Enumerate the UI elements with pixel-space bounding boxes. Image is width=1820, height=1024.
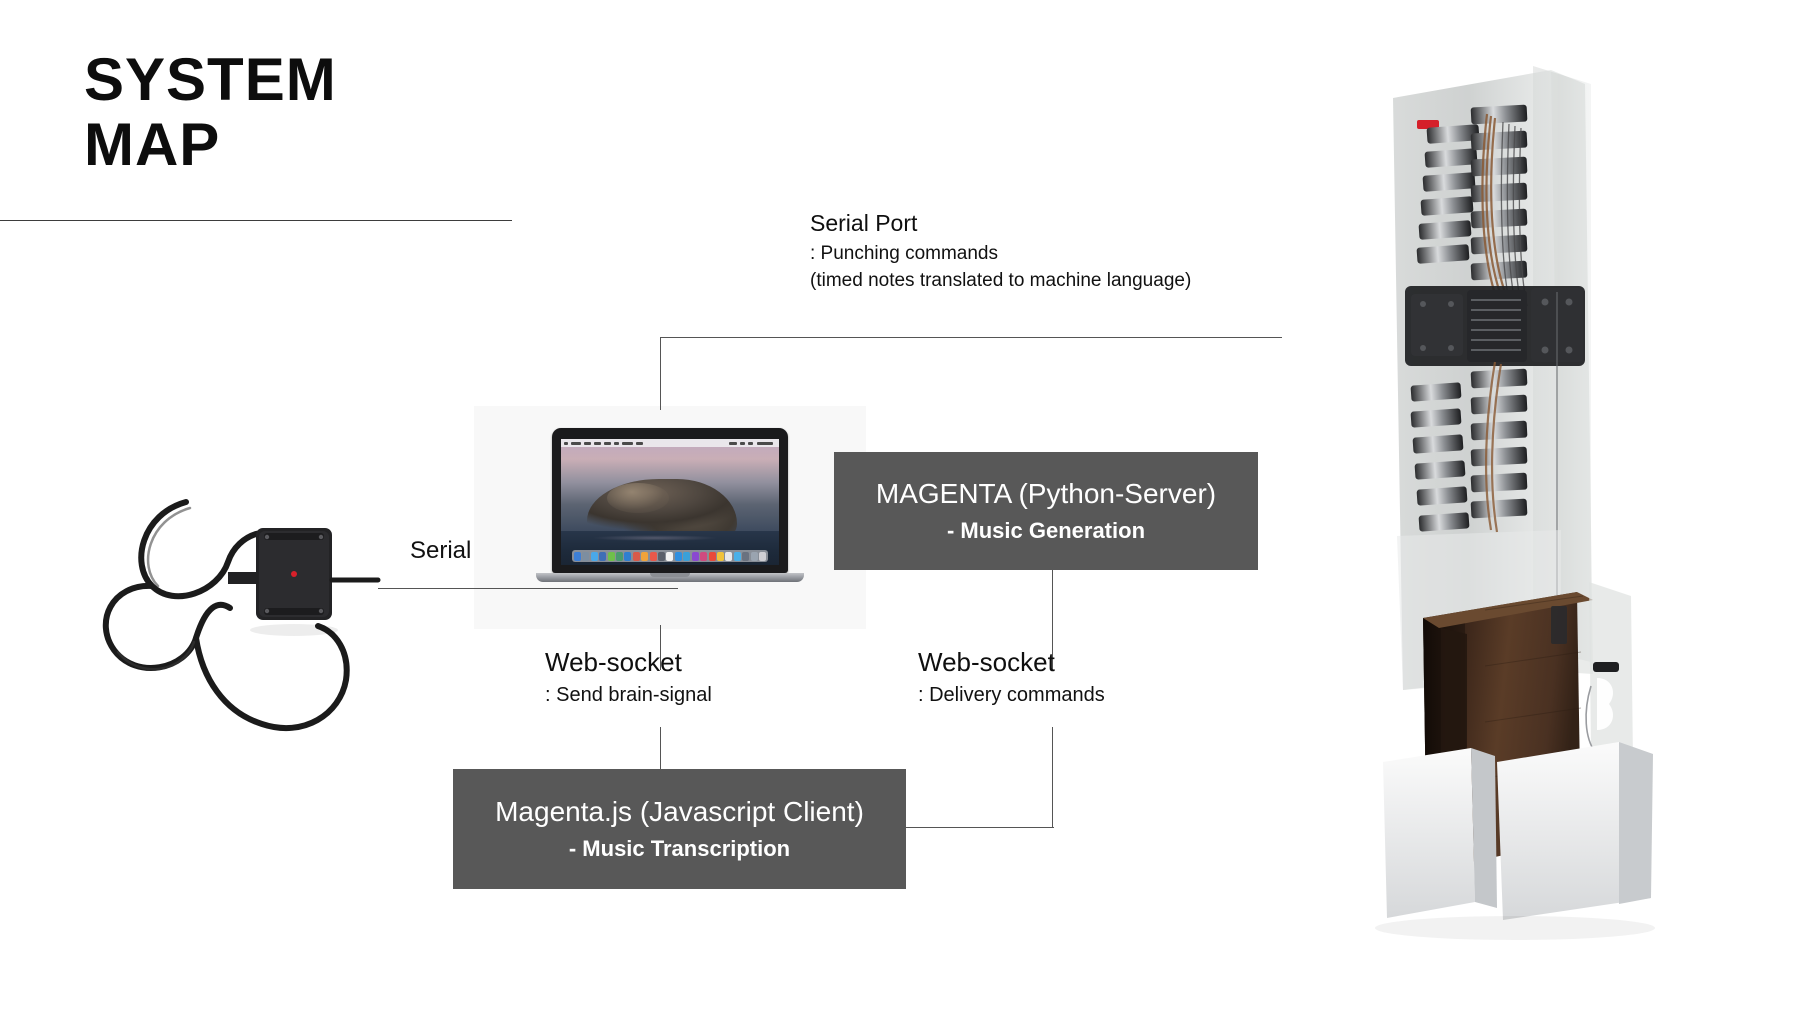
title-divider (0, 220, 512, 221)
connector-magentajs-right-join (906, 827, 1054, 828)
websocket-right-sub: : Delivery commands (918, 681, 1105, 710)
page-title-line-1: SYSTEM (84, 48, 514, 113)
magenta-server-title: MAGENTA (Python-Server) (876, 477, 1216, 511)
system-map-slide: SYSTEM MAP (0, 0, 1820, 1024)
magenta-js-box[interactable]: Magenta.js (Javascript Client) - Music T… (453, 769, 906, 889)
eeg-headset-photo (78, 480, 398, 780)
connector-serial-port-to-machine (660, 337, 1282, 338)
serial-label: Serial (410, 537, 471, 565)
websocket-right-note: Web-socket : Delivery commands (918, 645, 1105, 710)
laptop-notch (650, 573, 690, 577)
laptop-lid (552, 428, 788, 573)
serial-port-note-sub2: (timed notes translated to machine langu… (810, 267, 1191, 295)
websocket-left-sub: : Send brain-signal (545, 681, 712, 710)
serial-port-note-head: Serial Port (810, 208, 1191, 240)
websocket-right-head: Web-socket (918, 645, 1105, 681)
music-punching-machine-photo (1345, 62, 1705, 942)
magenta-server-subtitle: - Music Generation (947, 517, 1145, 545)
macos-dock (572, 550, 768, 562)
websocket-left-note: Web-socket : Send brain-signal (545, 645, 712, 710)
websocket-left-head: Web-socket (545, 645, 712, 681)
macbook-photo-stage (474, 406, 866, 629)
serial-port-note: Serial Port : Punching commands (timed n… (810, 208, 1191, 295)
laptop-screen (561, 439, 779, 565)
serial-port-note-sub1: : Punching commands (810, 240, 1191, 268)
catalina-island-highlight (607, 483, 669, 513)
page-title: SYSTEM MAP (84, 48, 514, 178)
connector-magentajs-uplink (660, 727, 661, 770)
magenta-server-box[interactable]: MAGENTA (Python-Server) - Music Generati… (834, 452, 1258, 570)
connector-magenta-server-to-magentajs (1052, 727, 1053, 828)
magenta-js-title: Magenta.js (Javascript Client) (495, 795, 864, 829)
magenta-js-subtitle: - Music Transcription (569, 835, 790, 863)
connector-eeg-to-laptop (378, 588, 678, 589)
page-title-line-2: MAP (84, 113, 514, 178)
macbook-pro-photo (552, 428, 788, 583)
macos-menubar (561, 439, 779, 447)
connector-laptop-to-serial-port (660, 337, 661, 410)
